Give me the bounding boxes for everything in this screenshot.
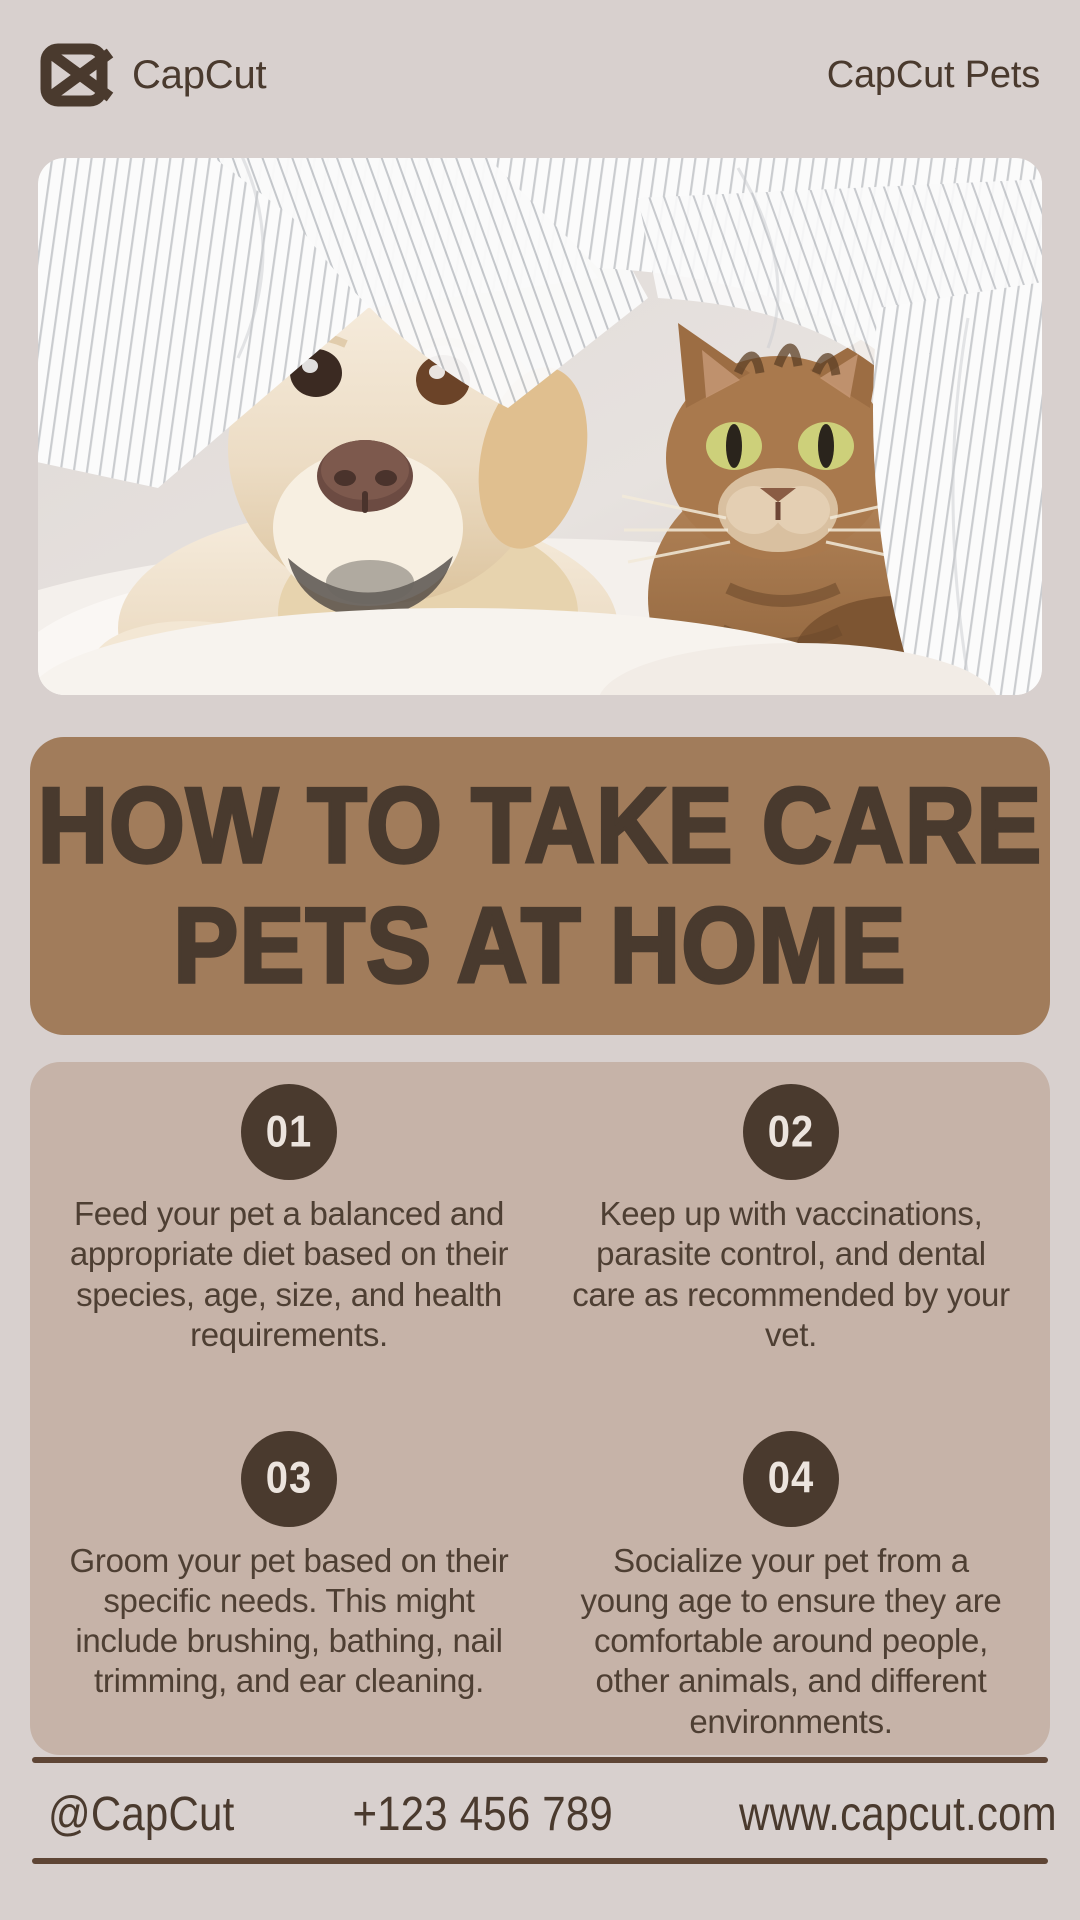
tip-number-badge: 02: [743, 1084, 839, 1180]
tip-number-badge: 03: [241, 1431, 337, 1527]
footer-handle[interactable]: @CapCut: [48, 1787, 234, 1842]
tip-text: Groom your pet based on their specific n…: [64, 1541, 514, 1702]
tip-card: 04 Socialize your pet from a young age t…: [540, 1409, 1042, 1756]
title-line-2: PETS AT HOME: [173, 889, 906, 1003]
infographic-page: CapCut CapCut Pets: [0, 0, 1080, 1920]
header-right-label: CapCut Pets: [827, 54, 1040, 97]
hero-image: [38, 158, 1042, 695]
capcut-logo-icon: [40, 43, 114, 107]
footer: @CapCut +123 456 789 www.capcut.com: [32, 1775, 1048, 1853]
footer-divider-bottom: [32, 1858, 1048, 1864]
footer-phone[interactable]: +123 456 789: [352, 1787, 613, 1842]
footer-divider-top: [32, 1757, 1048, 1763]
tips-panel: 01 Feed your pet a balanced and appropri…: [30, 1062, 1050, 1755]
footer-website[interactable]: www.capcut.com: [739, 1787, 1057, 1842]
header: CapCut CapCut Pets: [0, 0, 1080, 150]
tip-number-badge: 01: [241, 1084, 337, 1180]
tip-text: Feed your pet a balanced and appropriate…: [64, 1194, 514, 1355]
tip-text: Socialize your pet from a young age to e…: [566, 1541, 1016, 1742]
tip-card: 02 Keep up with vaccinations, parasite c…: [540, 1062, 1042, 1409]
brand: CapCut: [40, 43, 266, 107]
tip-number-badge: 04: [743, 1431, 839, 1527]
tip-number: 01: [266, 1107, 313, 1157]
tip-number: 04: [768, 1453, 815, 1503]
tip-number: 03: [266, 1453, 313, 1503]
tip-text: Keep up with vaccinations, parasite cont…: [566, 1194, 1016, 1355]
tip-number: 02: [768, 1107, 815, 1157]
tip-card: 01 Feed your pet a balanced and appropri…: [38, 1062, 540, 1409]
title-banner: HOW TO TAKE CARE PETS AT HOME: [30, 737, 1050, 1035]
tip-card: 03 Groom your pet based on their specifi…: [38, 1409, 540, 1756]
title-line-1: HOW TO TAKE CARE: [38, 769, 1043, 883]
brand-name: CapCut: [132, 53, 266, 98]
